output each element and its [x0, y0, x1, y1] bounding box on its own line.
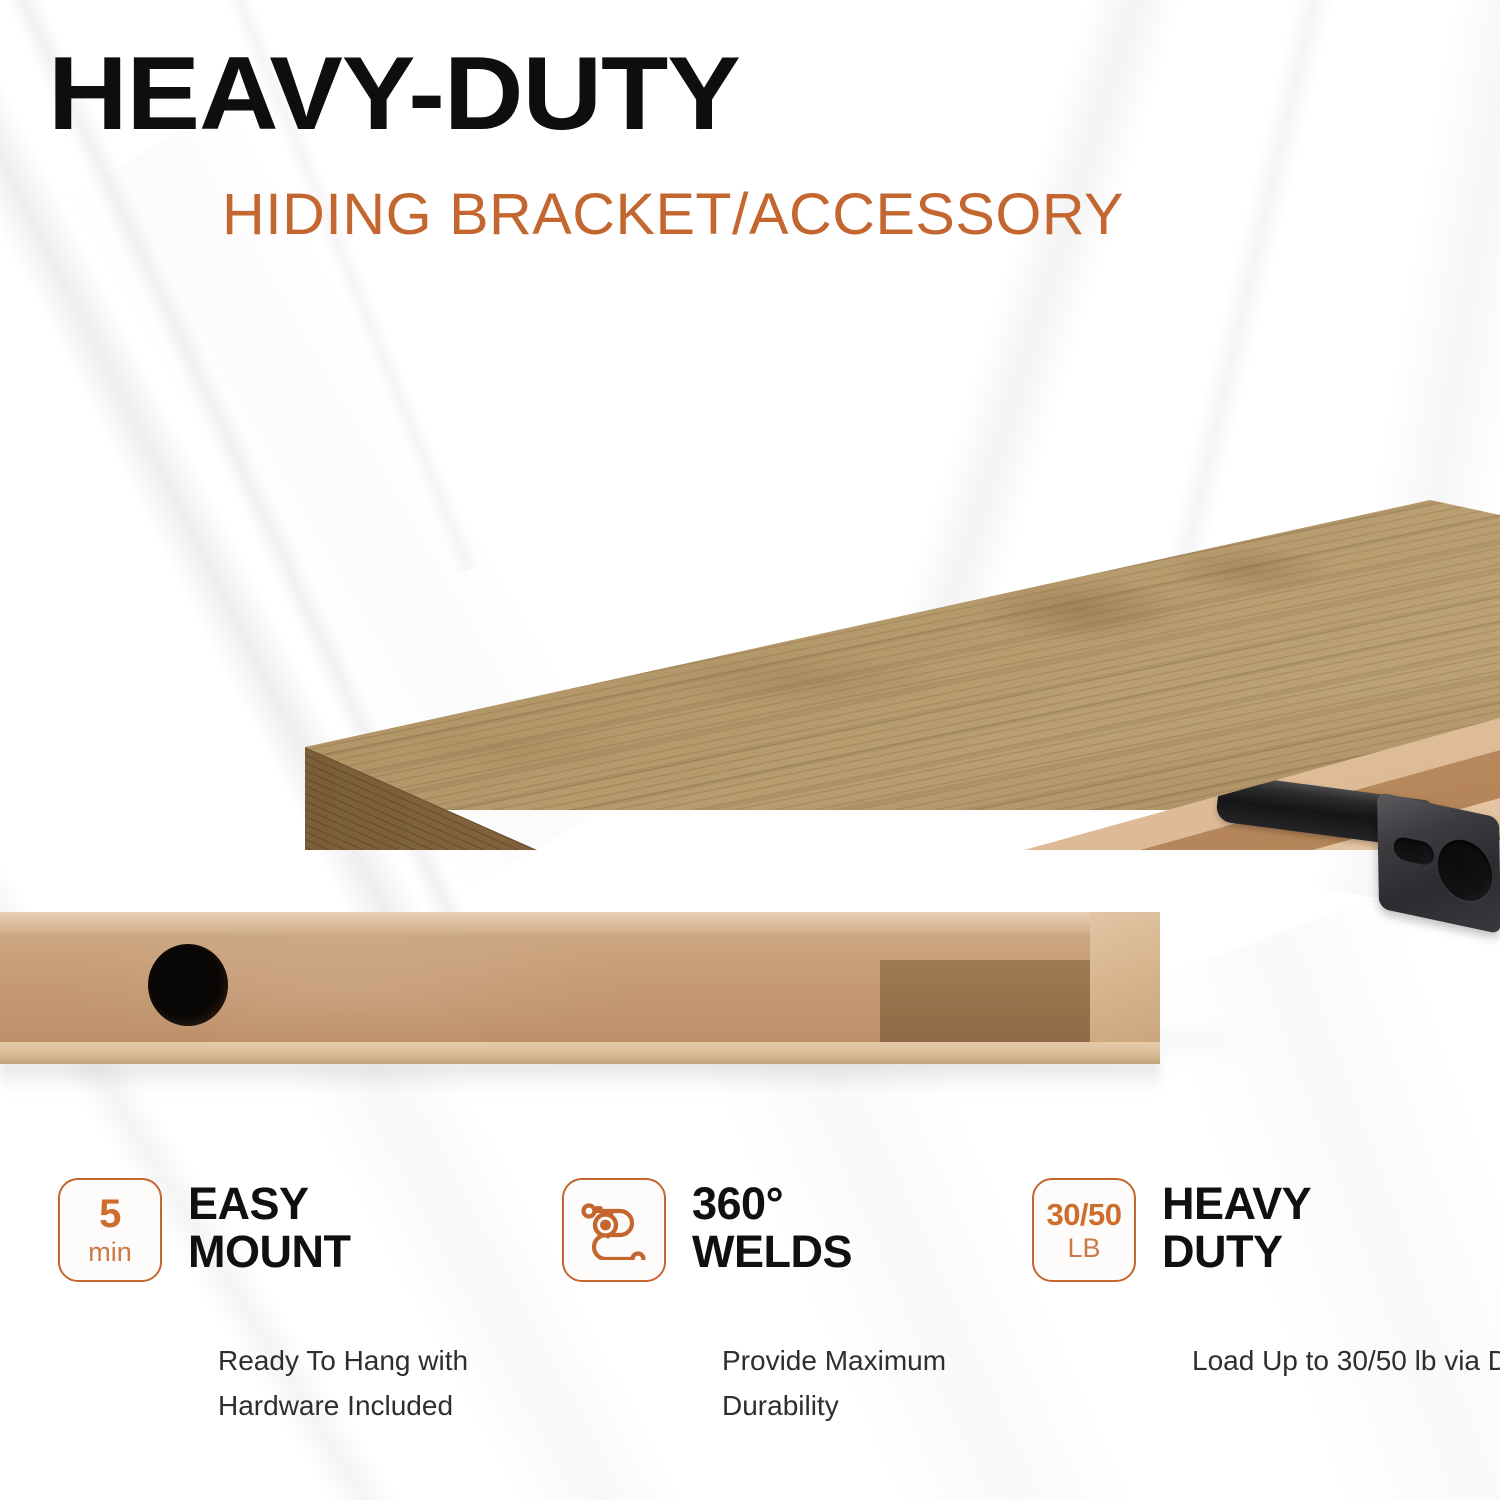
product-infographic: HEAVY-DUTY HIDING BRACKET/ACCESSORY — [0, 0, 1500, 1500]
feature-header: 5 min EASY MOUNT — [58, 1178, 528, 1282]
channel-top-lip — [0, 912, 1160, 934]
weld-path-gear-icon — [562, 1180, 666, 1280]
channel-drop-shadow — [0, 1060, 1160, 1092]
page-subtitle: HIDING BRACKET/ACCESSORY — [222, 186, 1124, 244]
channel-mounting-hole — [148, 944, 228, 1026]
page-title: HEAVY-DUTY — [48, 44, 740, 146]
feature-title: HEAVY DUTY — [1162, 1178, 1311, 1275]
badge-unit: LB — [1067, 1235, 1100, 1262]
feature-row: 5 min EASY MOUNT Ready To Hang with Hard… — [0, 1178, 1500, 1438]
feature-360-welds: 360° WELDS Provide Maximum Durability — [562, 1178, 1022, 1429]
feature-header: 30/50 LB HEAVY DUTY — [1032, 1178, 1492, 1282]
feature-description: Provide Maximum Durability — [722, 1338, 1022, 1429]
badge-value: 30/50 — [1046, 1199, 1121, 1230]
feature-heavy-duty: 30/50 LB HEAVY DUTY Load Up to 30/50 lb … — [1032, 1178, 1492, 1383]
badge-30-50-lb: 30/50 LB — [1032, 1178, 1136, 1282]
badge-unit: min — [88, 1239, 132, 1266]
badge-weld-icon — [562, 1178, 666, 1282]
feature-header: 360° WELDS — [562, 1178, 1022, 1282]
bracket-slot-hole — [1394, 835, 1434, 867]
feature-title: 360° WELDS — [692, 1178, 852, 1275]
feature-description: Load Up to 30/50 lb via Drywall — [1192, 1338, 1492, 1383]
feature-description: Ready To Hang with Hardware Included — [218, 1338, 528, 1429]
feature-title: EASY MOUNT — [188, 1178, 350, 1275]
hero-product-image — [0, 250, 1500, 850]
bracket-round-hole — [1438, 835, 1493, 907]
feature-easy-mount: 5 min EASY MOUNT Ready To Hang with Hard… — [58, 1178, 528, 1429]
shelf-top-surface — [0, 250, 1500, 810]
badge-value: 5 — [99, 1194, 121, 1234]
badge-5-min: 5 min — [58, 1178, 162, 1282]
